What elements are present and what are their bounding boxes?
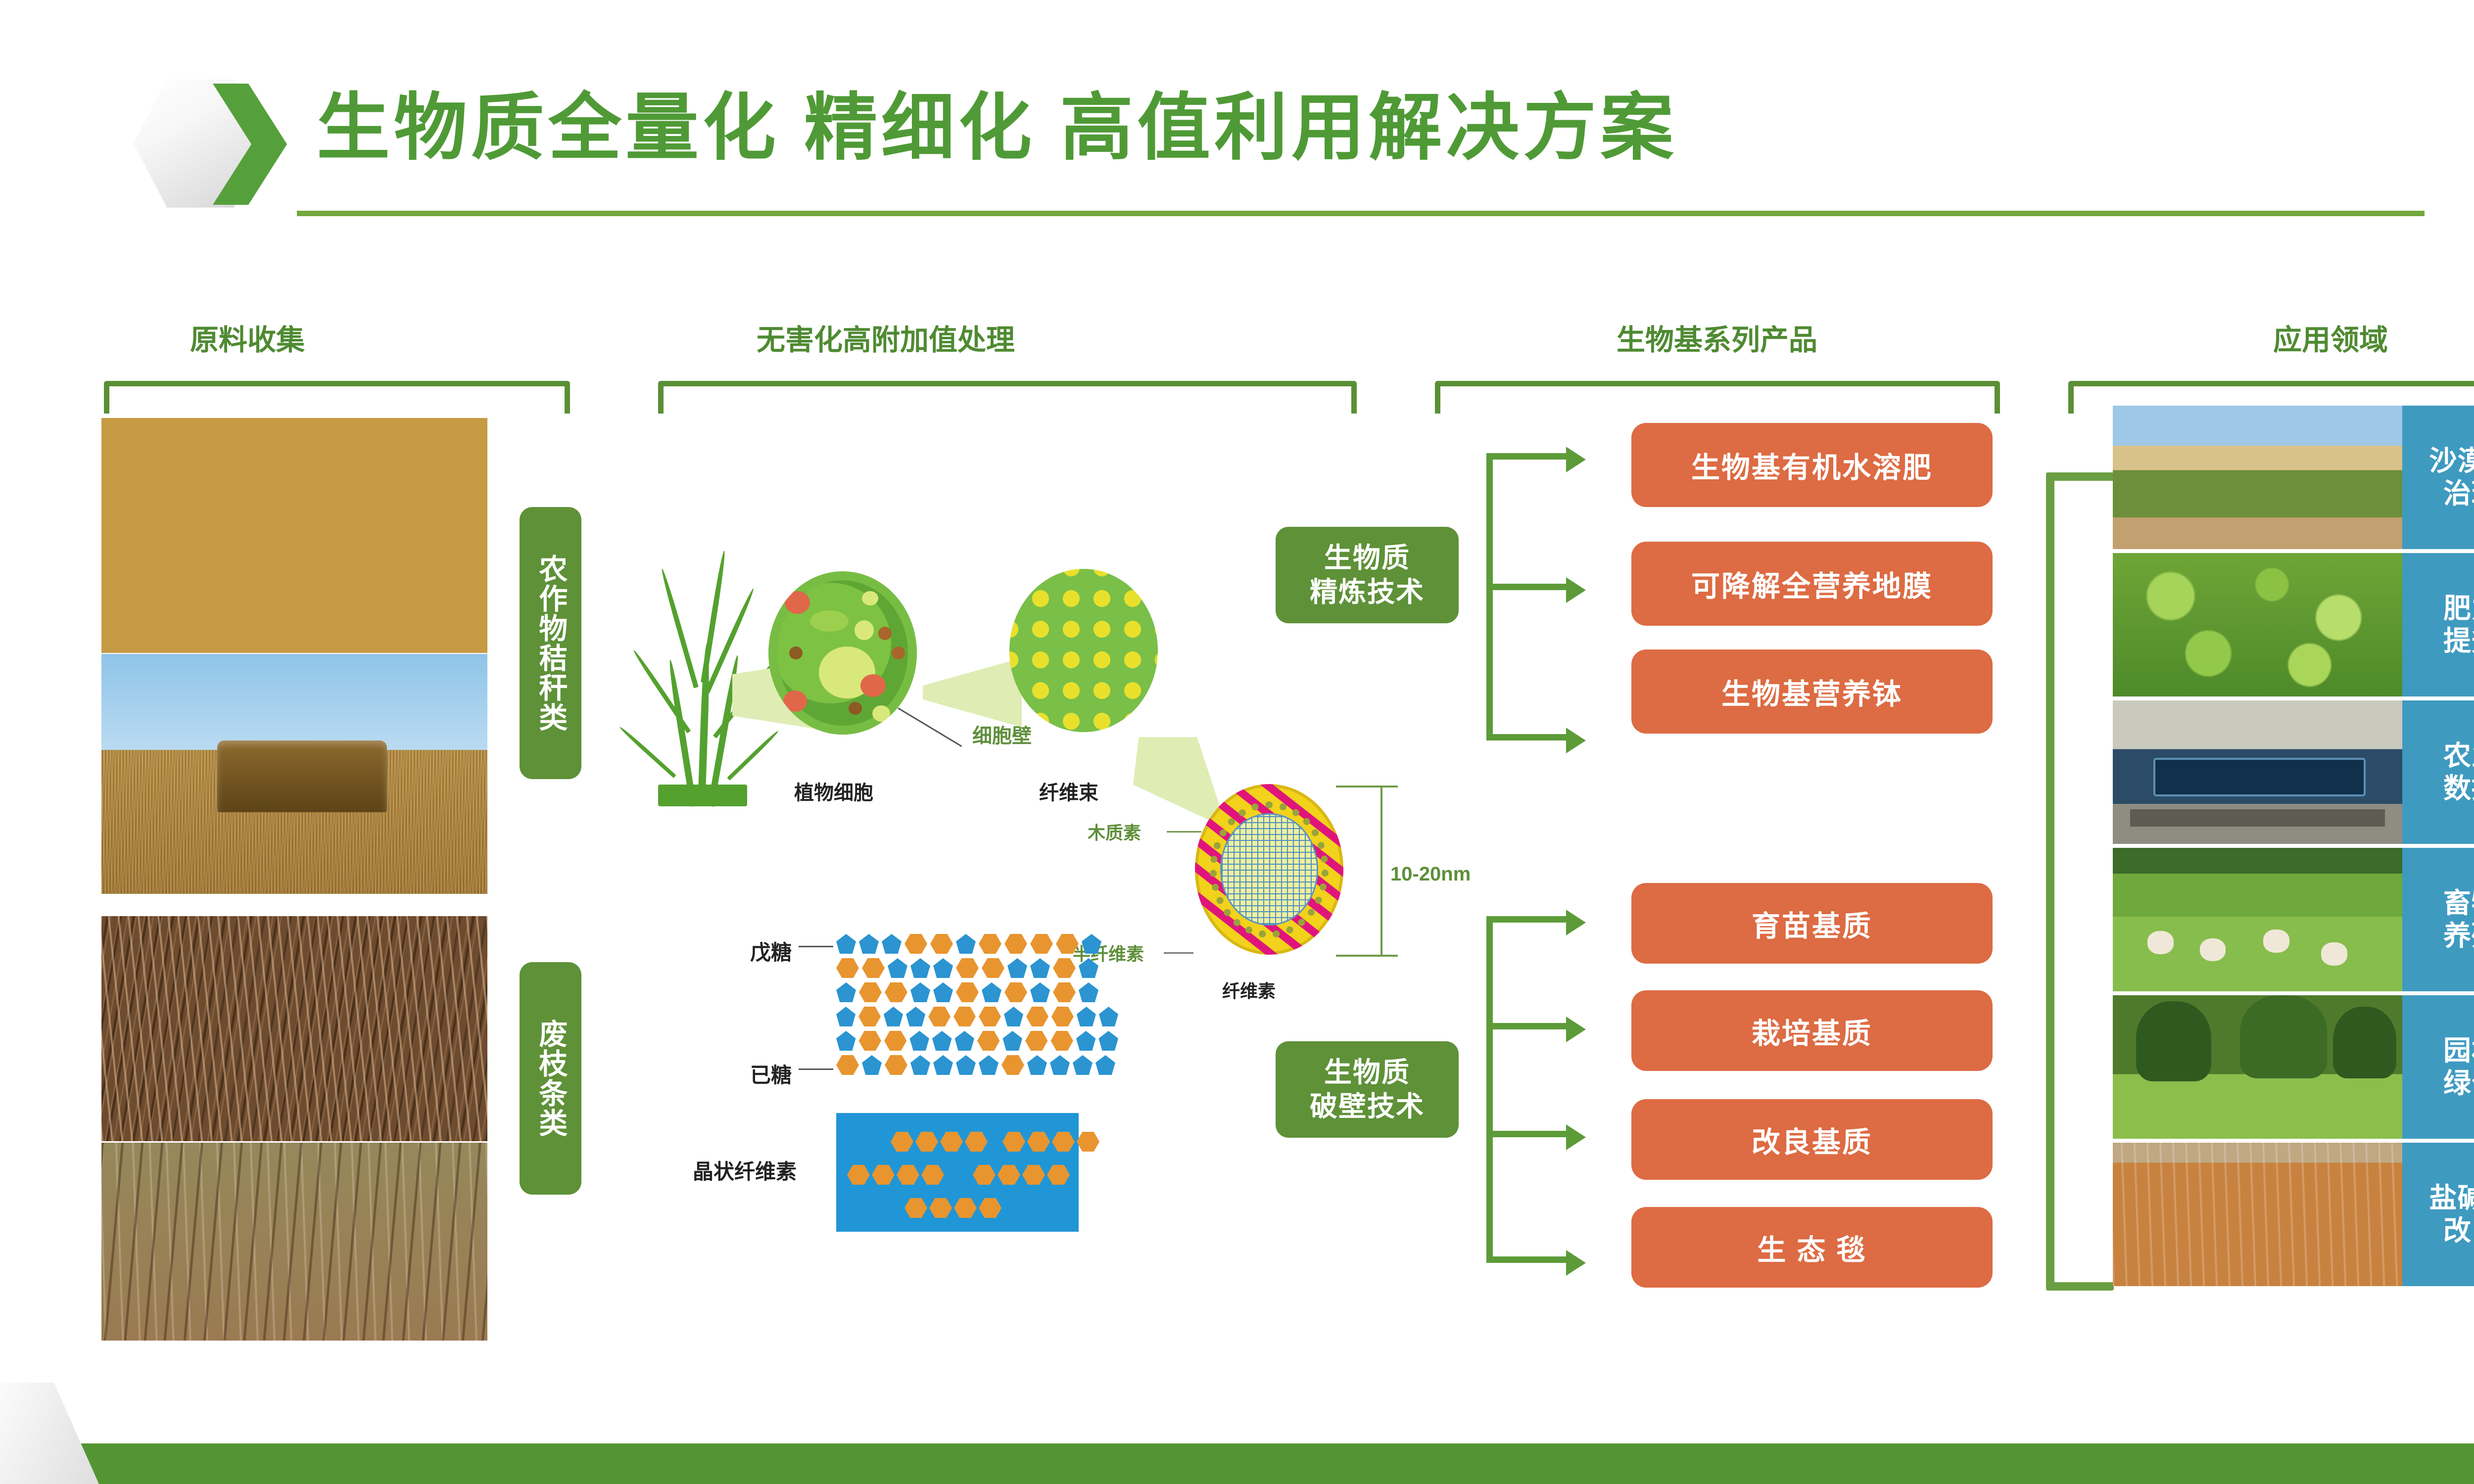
app-label-line1: 农业 (2443, 740, 2474, 771)
diagram-label-crystalline: 晶状纤维素 (693, 1155, 797, 1185)
application-tag-landscaping: 园林 绿化 (2402, 995, 2474, 1139)
connector-refining (1465, 425, 1653, 762)
feedstock-label-crop-straw: 农作物秸秆类 (520, 507, 581, 779)
application-row-landscaping[interactable]: 园林 绿化 (2113, 995, 2474, 1139)
app-label-line1: 肥力 (2443, 593, 2474, 624)
application-row-livestock[interactable]: 畜牧 养殖 (2113, 848, 2474, 991)
diagram-label-plantcell: 植物细胞 (794, 777, 873, 805)
dimension-bracket-bottom (1336, 955, 1398, 957)
dimension-bracket-top (1336, 786, 1398, 788)
application-photo-desert-control (2113, 406, 2402, 549)
application-tag-fertility: 肥力 提升 (2402, 553, 2474, 696)
footer-bar (0, 1443, 2474, 1484)
application-photo-livestock (2113, 848, 2402, 991)
app-label-line2: 数据 (2443, 773, 2474, 804)
application-row-agri-data[interactable]: 农业 数据 (2113, 700, 2474, 844)
lignin-leader-line (1167, 831, 1201, 833)
app-label-line2: 改良 (2443, 1215, 2474, 1246)
diagram-label-cellulose: 纤维素 (1222, 977, 1276, 1003)
dimension-bracket-vertical (1380, 786, 1382, 957)
diagram-label-hexose: 已糖 (750, 1059, 792, 1089)
app-label-line2: 绿化 (2443, 1067, 2474, 1099)
hemicellulose-leader-line (1164, 952, 1193, 954)
application-photo-saline-alkali (2113, 1143, 2402, 1286)
feedstock-photo-corn-stalk (101, 418, 487, 653)
tech-box-refining[interactable]: 生物质 精炼技术 (1276, 527, 1459, 623)
tech-label-line2: 精炼技术 (1310, 575, 1425, 609)
tech-box-cell-wall-breaking[interactable]: 生物质 破壁技术 (1276, 1041, 1459, 1138)
application-row-desert-control[interactable]: 沙漠化 治理 (2113, 406, 2474, 549)
plant-cell-illustration (768, 571, 917, 735)
feedstock-label-waste-branches: 废枝条类 (520, 962, 581, 1195)
application-row-fertility[interactable]: 肥力 提升 (2113, 553, 2474, 696)
section-title-products: 生物基系列产品 (1430, 317, 2004, 358)
feedstock-photo-dry-branches (101, 916, 487, 1141)
fiber-bundle-illustration (1009, 569, 1158, 732)
diagram-label-pentose: 戊糖 (750, 936, 792, 966)
cellwall-leader-line (898, 707, 962, 747)
application-tag-agri-data: 农业 数据 (2402, 700, 2474, 844)
cellulose-fiber-cross-section (1195, 784, 1343, 955)
feedstock-photo-straw-bale (101, 654, 487, 894)
product-box-seedling-substrate[interactable]: 育苗基质 (1631, 883, 1993, 964)
application-tag-desert-control: 沙漠化 治理 (2402, 406, 2474, 549)
section-bracket-products (1435, 381, 2000, 414)
sugar-chain-illustration (836, 934, 1118, 1079)
crystalline-cellulose-panel (836, 1113, 1079, 1232)
magnify-cone-2 (923, 658, 1022, 727)
app-label-line1: 沙漠化 (2429, 445, 2474, 476)
product-box-cultivation-substrate[interactable]: 栽培基质 (1631, 990, 1993, 1071)
product-box-ecological-blanket[interactable]: 生 态 毯 (1631, 1207, 1993, 1288)
footer-wedge-decoration (0, 1383, 99, 1484)
product-box-biodegradable-mulch-film[interactable]: 可降解全营养地膜 (1631, 542, 1993, 626)
product-box-improvement-substrate[interactable]: 改良基质 (1631, 1099, 1993, 1180)
application-row-saline-alkali[interactable]: 盐碱地 改良 (2113, 1143, 2474, 1286)
pentose-leader-line (799, 946, 833, 947)
application-tag-saline-alkali: 盐碱地 改良 (2402, 1143, 2474, 1286)
title-divider (297, 211, 2425, 216)
application-photo-fertility (2113, 553, 2402, 696)
section-title-collection: 原料收集 (124, 317, 371, 358)
section-bracket-processing (658, 381, 1357, 414)
connector-cell-wall-breaking (1465, 885, 1653, 1276)
section-title-applications: 应用领域 (2108, 317, 2474, 358)
app-label-line2: 治理 (2443, 478, 2474, 509)
page-title: 生物质全量化 精细化 高值利用解决方案 (317, 92, 1677, 165)
app-label-line1: 畜牧 (2443, 887, 2474, 919)
application-photo-landscaping (2113, 995, 2402, 1139)
section-bracket-collection (104, 381, 570, 414)
app-label-line1: 盐碱地 (2429, 1182, 2474, 1213)
feedstock-photo-vineyard-pruning (101, 1143, 487, 1341)
app-label-line2: 养殖 (2443, 920, 2474, 951)
tech-label-line1: 生物质 (1324, 1056, 1410, 1089)
tech-label-line1: 生物质 (1324, 541, 1410, 575)
diagram-label-bundle: 纤维束 (1039, 777, 1098, 805)
app-label-line2: 提升 (2443, 625, 2474, 656)
tech-label-line2: 破壁技术 (1310, 1090, 1425, 1123)
diagram-label-dimension: 10-20nm (1390, 863, 1471, 885)
section-title-processing: 无害化高附加值处理 (638, 317, 1133, 358)
applications-bracket (2046, 472, 2114, 1291)
hexose-leader-line (799, 1068, 833, 1070)
brand-logo (134, 77, 292, 210)
app-label-line1: 园林 (2443, 1035, 2474, 1066)
application-tag-livestock: 畜牧 养殖 (2402, 848, 2474, 991)
product-box-nutrient-pot[interactable]: 生物基营养钵 (1631, 649, 1993, 734)
diagram-label-lignin: 木质素 (1088, 819, 1141, 844)
application-photo-agri-data (2113, 700, 2402, 844)
product-box-water-soluble-fertilizer[interactable]: 生物基有机水溶肥 (1631, 423, 1993, 507)
